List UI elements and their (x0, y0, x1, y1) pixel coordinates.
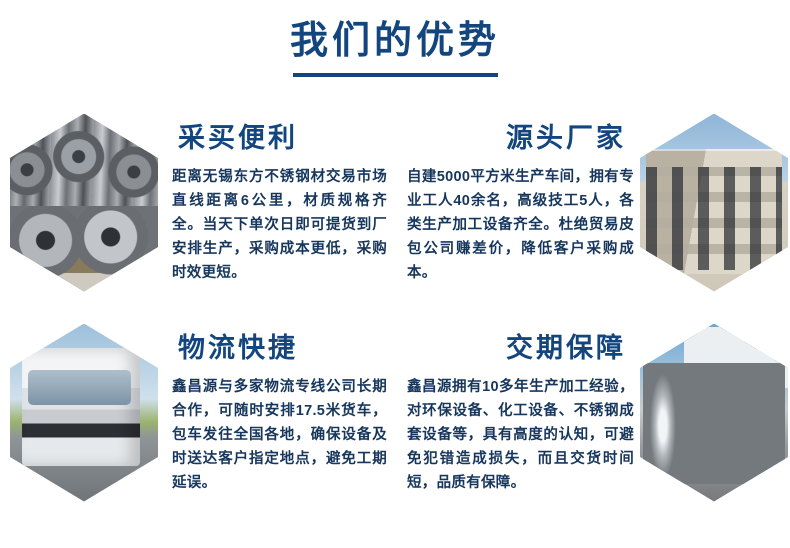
advantage-card-4-heading: 交期保障 (407, 331, 634, 365)
advantage-card-4-body: 鑫昌源拥有10多年生产加工经验，对环保设备、化工设备、不锈钢成套设备等，具有高度… (407, 375, 634, 495)
advantage-card-2-text: 源头厂家 自建5000平方米生产车间，拥有专业工人40余名，高级技工5人，各类生… (395, 121, 640, 285)
advantages-grid: 采买便利 距离无锡东方不锈钢材交易市场直线距离6公里，材质规格齐全。当天下单次日… (0, 100, 790, 548)
stainless-tanks-image-fill (640, 324, 788, 502)
advantage-card-4: 交期保障 鑫昌源拥有10多年生产加工经验，对环保设备、化工设备、不锈钢成套设备等… (395, 305, 790, 520)
advantage-card-2: 源头厂家 自建5000平方米生产车间，拥有专业工人40余名，高级技工5人，各类生… (395, 100, 790, 305)
advantage-card-1: 采买便利 距离无锡东方不锈钢材交易市场直线距离6公里，材质规格齐全。当天下单次日… (0, 100, 395, 305)
stainless-tanks-photo (640, 324, 788, 502)
title-underline-rule (293, 73, 498, 77)
advantage-card-1-text: 采买便利 距离无锡东方不锈钢材交易市场直线距离6公里，材质规格齐全。当天下单次日… (158, 121, 395, 285)
delivery-truck-photo (10, 324, 158, 502)
advantage-card-4-text: 交期保障 鑫昌源拥有10多年生产加工经验，对环保设备、化工设备、不锈钢成套设备等… (395, 331, 640, 495)
steel-coils-image-fill (10, 114, 158, 292)
advantage-card-1-body: 距离无锡东方不锈钢材交易市场直线距离6公里，材质规格齐全。当天下单次日即可提货到… (172, 165, 387, 285)
page-title: 我们的优势 (0, 18, 790, 64)
factory-building-image-fill (640, 114, 788, 292)
advantage-card-1-heading: 采买便利 (172, 121, 387, 155)
advantage-card-2-heading: 源头厂家 (407, 121, 634, 155)
advantage-card-3-text: 物流快捷 鑫昌源与多家物流专线公司长期合作，可随时安排17.5米货车，包车发往全… (158, 331, 395, 495)
advantage-card-3-heading: 物流快捷 (172, 331, 387, 365)
page-header: 我们的优势 (0, 0, 790, 77)
advantage-card-3: 物流快捷 鑫昌源与多家物流专线公司长期合作，可随时安排17.5米货车，包车发往全… (0, 305, 395, 520)
advantage-card-3-body: 鑫昌源与多家物流专线公司长期合作，可随时安排17.5米货车，包车发往全国各地，确… (172, 375, 387, 495)
delivery-truck-image-fill (10, 324, 158, 502)
factory-building-photo (640, 114, 788, 292)
advantage-card-2-body: 自建5000平方米生产车间，拥有专业工人40余名，高级技工5人，各类生产加工设备… (407, 165, 634, 285)
steel-coils-photo (10, 114, 158, 292)
